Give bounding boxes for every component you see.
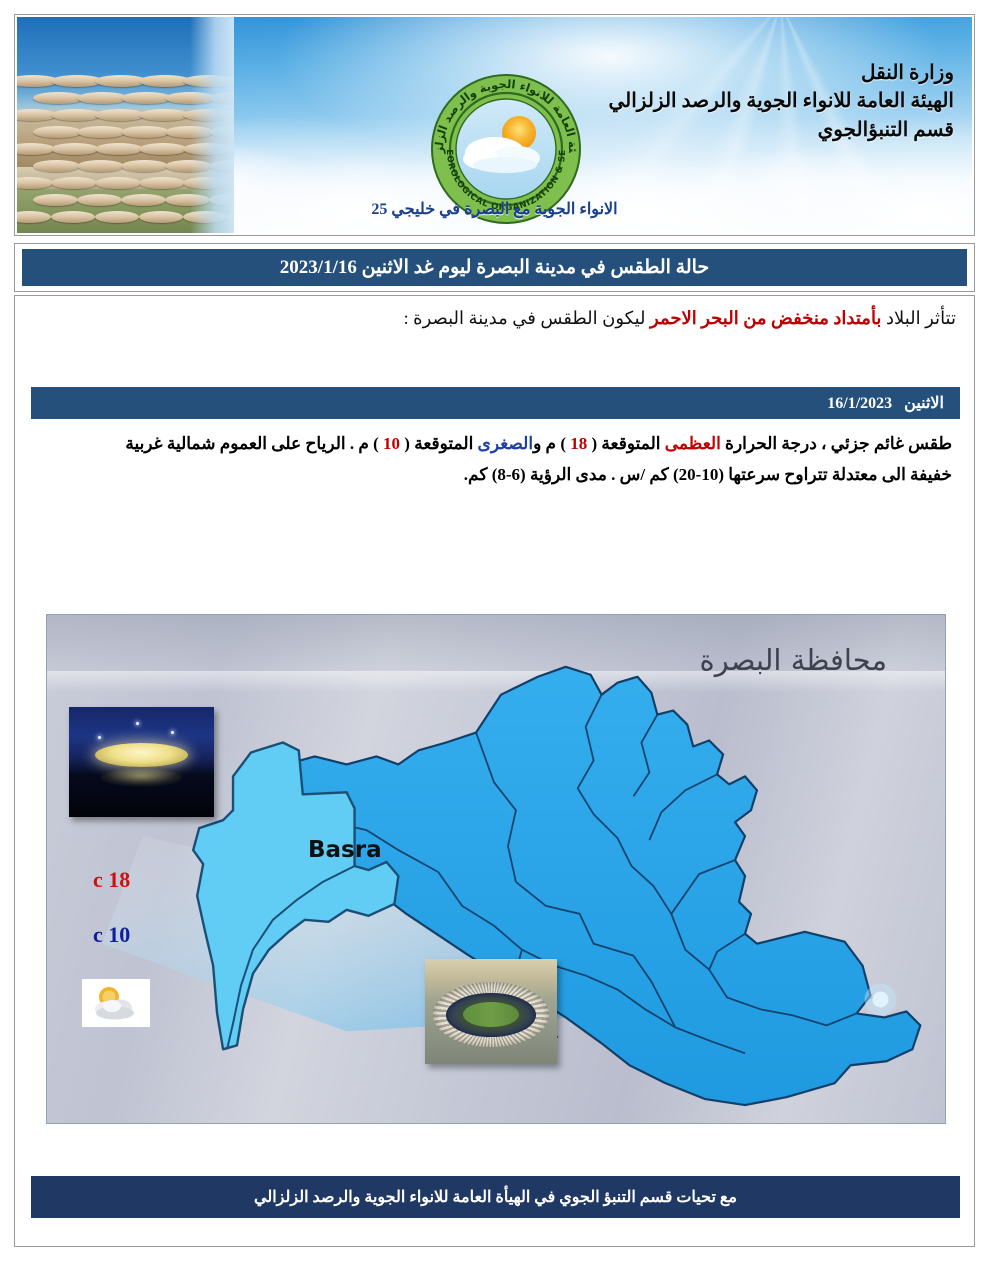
stadium-reflection-decoration	[101, 769, 182, 787]
authority-name: الهيئة العامة للانواء الجوية والرصد الزل…	[554, 87, 954, 115]
star-decoration	[136, 722, 139, 725]
stadium-night-photo	[69, 707, 214, 817]
map-temp-high: 18 c	[93, 867, 130, 893]
forecast-text-1: طقس غائم جزئي ، درجة الحرارة	[721, 434, 952, 453]
banner-subtitle: الانواء الجوية مع البصرة في خليجي 25	[17, 199, 972, 219]
date-bar: الاثنين 16/1/2023	[31, 387, 960, 419]
forecast-text-3: ) م و	[533, 434, 570, 453]
weather-icon-tile	[82, 979, 150, 1027]
star-decoration	[98, 736, 101, 739]
intro-highlight: بأمتداد منخفض من البحر الاحمر	[650, 308, 881, 328]
max-temp-value: 18	[570, 434, 587, 453]
intro-after: ليكون الطقس في مدينة البصرة :	[404, 308, 650, 328]
stadium-aerial-photo	[425, 959, 557, 1064]
forecast-body-box: تتأثر البلاد بأمتداد منخفض من البحر الاح…	[14, 295, 975, 1247]
intro-paragraph: تتأثر البلاد بأمتداد منخفض من البحر الاح…	[36, 308, 956, 329]
forecast-paragraph: طقس غائم جزئي ، درجة الحرارة العظمى المت…	[40, 428, 952, 491]
partly-cloudy-icon	[88, 983, 144, 1023]
forecast-text-2: المتوقعة (	[587, 434, 665, 453]
map-temp-low: 10 c	[93, 922, 130, 948]
forecast-text-4: المتوقعة (	[400, 434, 478, 453]
forecast-line-2: خفيفة الى معتدلة تتراوح سرعتها (10-20) ك…	[40, 459, 952, 490]
min-temp-value: 10	[383, 434, 400, 453]
footer-bar: مع تحيات قسم التنبؤ الجوي في الهيأة العا…	[31, 1176, 960, 1218]
weather-map-panel: محافظة البصرة 18 c 10 c	[46, 614, 946, 1124]
basra-city-label: Basra	[308, 837, 382, 863]
max-temp-label: العظمى	[665, 434, 721, 453]
banner-heading-group: وزارة النقل الهيئة العامة للانواء الجوية…	[554, 59, 954, 144]
star-decoration	[171, 731, 174, 734]
document-page: الهيئة العامة للانواء الجوية والرصد الزل…	[14, 0, 975, 1262]
min-temp-label: الصغرى	[478, 434, 534, 453]
department-name: قسم التنبؤالجوي	[554, 116, 954, 144]
stadium-pitch-decoration	[463, 1002, 518, 1027]
page-title-box: حالة الطقس في مدينة البصرة ليوم غد الاثن…	[14, 243, 975, 292]
intro-before: تتأثر البلاد	[881, 308, 956, 328]
page-title: حالة الطقس في مدينة البصرة ليوم غد الاثن…	[22, 249, 967, 286]
ministry-name: وزارة النقل	[554, 59, 954, 87]
stadium-lights-decoration	[95, 743, 188, 767]
header-banner: الهيئة العامة للانواء الجوية والرصد الزل…	[17, 17, 972, 233]
header-banner-box: الهيئة العامة للانواء الجوية والرصد الزل…	[14, 14, 975, 236]
map-panel-title: محافظة البصرة	[700, 643, 888, 677]
forecast-text-5: ) م . الرياح على العموم شمالية غربية	[125, 434, 383, 453]
date-bar-text: الاثنين 16/1/2023	[827, 393, 944, 413]
